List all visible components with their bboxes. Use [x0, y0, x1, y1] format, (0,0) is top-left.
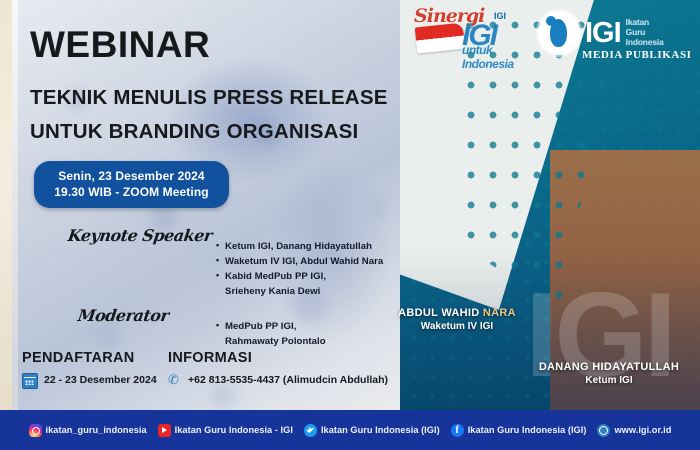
social-item-twitter[interactable]: Ikatan Guru Indonesia (IGI)	[304, 424, 440, 437]
left-edge-strip	[0, 0, 12, 450]
social-label: Ikatan Guru Indonesia (IGI)	[468, 425, 587, 435]
igi-emblem-icon	[538, 11, 580, 55]
portrait-name: DANANG HIDAYATULLAH	[528, 360, 690, 374]
list-item: Waketum IV IGI, Abdul Wahid Nara	[216, 255, 416, 270]
social-item-facebook[interactable]: f Ikatan Guru Indonesia (IGI)	[451, 424, 587, 437]
schedule-date: Senin, 23 Desember 2024	[44, 168, 219, 184]
social-label: Ikatan Guru Indonesia - IGI	[175, 425, 293, 435]
sinergi-igi-logo: Sinergi IGI untuk Indonesia IGI	[406, 3, 534, 63]
schedule-time: 19.30 WIB - ZOOM Meeting	[44, 184, 219, 200]
social-label: ikatan_guru_indonesia	[46, 425, 147, 435]
information-title: INFORMASI	[168, 350, 252, 366]
schedule-badge: Senin, 23 Desember 2024 19.30 WIB - ZOOM…	[34, 161, 229, 208]
facebook-icon: f	[451, 424, 464, 437]
portrait-role: Waketum IV IGI	[382, 320, 532, 333]
igi-media-publikasi-logo: IGI Ikatan Guru Indonesia MEDIA PUBLIKAS…	[538, 3, 694, 63]
page-title: WEBINAR	[30, 26, 210, 63]
webinar-poster: IGI Sinergi IGI untuk Indonesia IGI IGI …	[0, 0, 700, 450]
sinergi-mini-mark: IGI	[494, 11, 506, 21]
portrait-name: ABDUL WAHID NARA	[382, 306, 532, 320]
registration-title: PENDAFTARAN	[22, 350, 135, 366]
twitter-icon	[304, 424, 317, 437]
name-plate-danang-hidayatullah: DANANG HIDAYATULLAH Ketum IGI	[528, 360, 690, 387]
name-plate-abdul-wahid-nara: ABDUL WAHID NARA Waketum IV IGI	[382, 306, 532, 333]
igi-wordmark: IGI	[585, 19, 621, 48]
social-label: Ikatan Guru Indonesia (IGI)	[321, 425, 440, 435]
information-contact: +62 813-5535-4437 (Alimudcin Abdullah)	[188, 374, 388, 386]
sinergi-subtitle: untuk Indonesia	[462, 43, 534, 71]
indonesia-flag-icon	[415, 23, 465, 54]
instagram-icon	[29, 424, 42, 437]
registration-date-range: 22 - 23 Desember 2024	[44, 374, 157, 386]
portrait-role: Ketum IGI	[528, 374, 690, 387]
moderator-list: MedPub PP IGI, Rahmawaty Polontalo	[176, 320, 416, 350]
logo-row: Sinergi IGI untuk Indonesia IGI IGI Ikat…	[406, 2, 698, 64]
social-footer-bar: ikatan_guru_indonesia Ikatan Guru Indone…	[0, 410, 700, 450]
igi-fullname: Ikatan Guru Indonesia	[626, 18, 664, 47]
social-item-youtube[interactable]: Ikatan Guru Indonesia - IGI	[158, 424, 293, 437]
globe-icon	[597, 424, 610, 437]
website-label: www.igi.or.id	[614, 425, 671, 435]
moderator-label: Moderator	[77, 306, 170, 325]
list-item: Srieheny Kania Dewi	[216, 285, 416, 300]
keynote-speaker-list: Ketum IGI, Danang Hidayatullah Waketum I…	[176, 240, 416, 299]
youtube-icon	[158, 424, 171, 437]
website-link[interactable]: www.igi.or.id	[597, 424, 671, 437]
left-edge-strip-inner	[12, 0, 18, 450]
social-item-instagram[interactable]: ikatan_guru_indonesia	[29, 424, 147, 437]
list-item: Kabid MedPub PP IGI,	[216, 270, 416, 285]
calendar-icon	[22, 373, 38, 389]
media-publikasi-label: MEDIA PUBLIKASI	[582, 49, 692, 61]
subtitle-line-1: TEKNIK MENULIS PRESS RELEASE	[30, 86, 388, 110]
igi-fullname-line3: Indonesia	[626, 38, 664, 48]
list-item: Rahmawaty Polontalo	[216, 335, 416, 350]
subtitle-line-2: UNTUK BRANDING ORGANISASI	[30, 120, 358, 144]
list-item: Ketum IGI, Danang Hidayatullah	[216, 240, 416, 255]
phone-icon: ✆	[168, 373, 182, 387]
